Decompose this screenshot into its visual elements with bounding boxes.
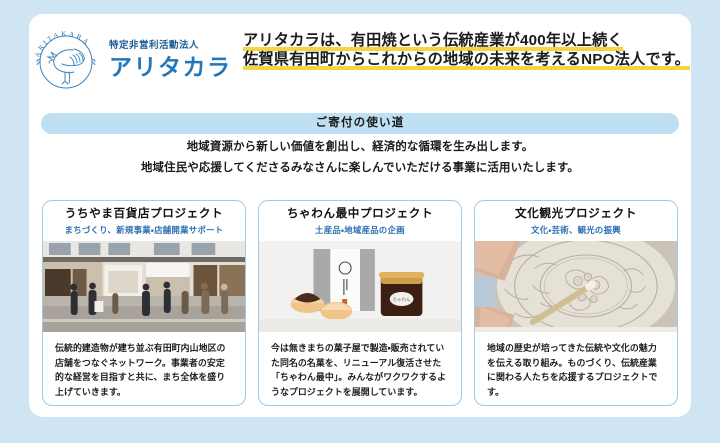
card-body: 伝統的建造物が建ち並ぶ有田町内山地区の店舗をつなぐネットワーク。事業者の安定的な… — [43, 332, 245, 400]
card-header: 文化観光プロジェクト 文化・芸術、観光の振興 — [475, 201, 677, 241]
headline-line-2: 佐賀県有田町からこれからの地域の未来を考えるNPO法人です。 — [243, 52, 690, 70]
card-header: うちやま百貨店プロジェクト まちづくり、新規事業・店舗開業サポート — [43, 201, 245, 241]
headline: アリタカラは、有田焼という伝統産業が400年以上続く 佐賀県有田町からこれからの… — [243, 32, 691, 70]
card-description: 今は無きまちの菓子屋で製造・販売されていた同名の名菓を、リニューアル復活させた「… — [271, 341, 449, 400]
card-title: ちゃわん最中プロジェクト — [259, 208, 461, 220]
card-body: 地域の歴史が培ってきた伝統や文化の魅力を伝える取り組み。ものづくり、伝統産業に関… — [475, 332, 677, 400]
headline-line-1: アリタカラは、有田焼という伝統産業が400年以上続く — [243, 33, 623, 51]
project-card-uchiyama[interactable]: うちやま百貨店プロジェクト まちづくり、新規事業・店舗開業サポート — [42, 200, 246, 406]
card-subtitle: 文化・芸術、観光の振興 — [475, 226, 677, 234]
card-title: うちやま百貨店プロジェクト — [43, 208, 245, 220]
logo-wordmark: 特定非営利活動法人 アリタカラ — [109, 41, 232, 80]
porcelain-painting-craftsman-photo — [475, 241, 677, 332]
monaka-sweets-giftbox-photo: ちゃわん — [259, 241, 461, 332]
main-panel: ARITAKARA — [29, 14, 691, 417]
card-description: 伝統的建造物が建ち並ぶ有田町内山地区の店舗をつなぐネットワーク。事業者の安定的な… — [55, 341, 233, 400]
project-card-cultural-tourism[interactable]: 文化観光プロジェクト 文化・芸術、観光の振興 — [474, 200, 678, 406]
card-title: 文化観光プロジェクト — [475, 208, 677, 220]
card-subtitle: まちづくり、新規事業・店舗開業サポート — [43, 226, 245, 234]
lead-line-1: 地域資源から新しい価値を創出し、経済的な循環を生み出します。 — [29, 142, 691, 153]
card-body: 今は無きまちの菓子屋で製造・販売されていた同名の名菓を、リニューアル復活させた「… — [259, 332, 461, 400]
crane-circle-logo-icon: ARITAKARA — [29, 23, 103, 97]
project-card-chawan-monaka[interactable]: ちゃわん最中プロジェクト 土産品・地域産品の企画 — [258, 200, 462, 406]
page-header: ARITAKARA — [29, 14, 691, 96]
section-band-title: ご寄付の使い道 — [316, 118, 405, 130]
streetscape-traditional-townhouses-photo — [43, 241, 245, 332]
svg-text:ちゃわん: ちゃわん — [393, 296, 411, 303]
section-band: ご寄付の使い道 — [41, 113, 679, 134]
lead-line-2: 地域住民や応援してくださるみなさんに楽しんでいただける事業に活用いたします。 — [29, 163, 691, 174]
logo-name: アリタカラ — [109, 55, 232, 79]
project-card-list: うちやま百貨店プロジェクト まちづくり、新規事業・店舗開業サポート — [42, 200, 678, 406]
card-description: 地域の歴史が培ってきた伝統や文化の魅力を伝える取り組み。ものづくり、伝統産業に関… — [487, 341, 665, 400]
card-header: ちゃわん最中プロジェクト 土産品・地域産品の企画 — [259, 201, 461, 241]
organization-logo: ARITAKARA — [29, 24, 241, 96]
lead-paragraph: 地域資源から新しい価値を創出し、経済的な循環を生み出します。 地域住民や応援して… — [29, 142, 691, 175]
logo-kicker: 特定非営利活動法人 — [109, 41, 199, 51]
card-subtitle: 土産品・地域産品の企画 — [259, 226, 461, 234]
